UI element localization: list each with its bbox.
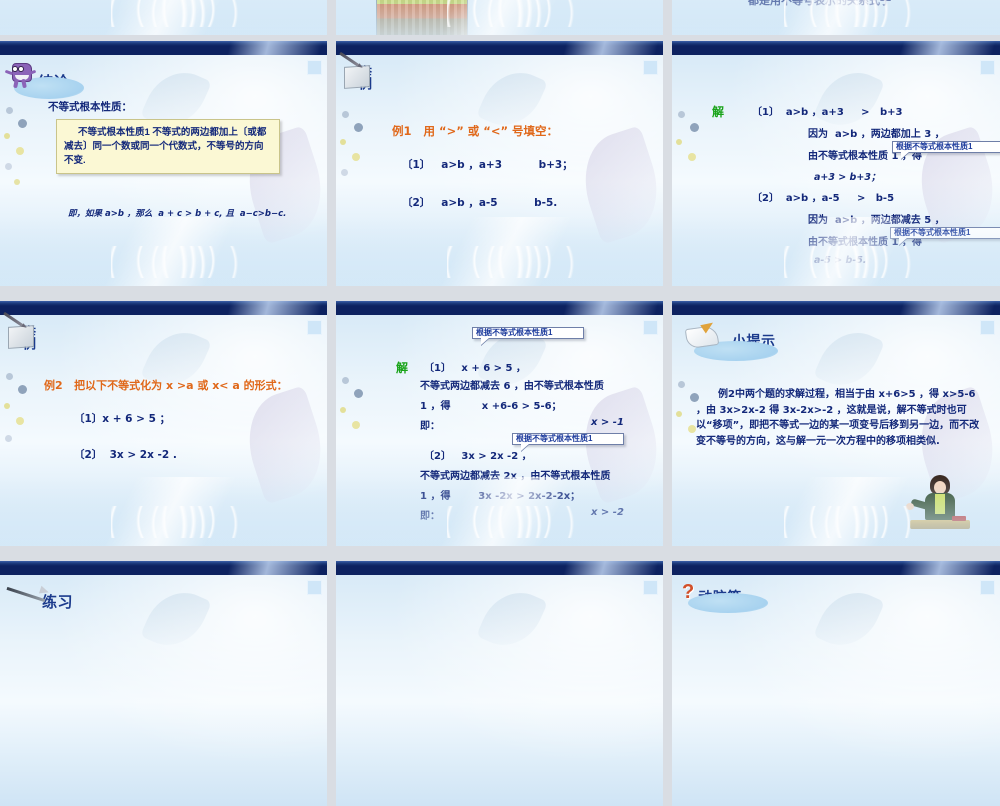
callout-tail-icon (899, 237, 908, 245)
decorative-leaf-icon (476, 581, 548, 657)
slide-title-example-2: 举例 (4, 319, 56, 349)
conclusion-footnote: 即，如果 a>b ，那么 a + c > b + c, 且 a−c>b−c. (68, 207, 286, 219)
decorative-swoosh (336, 217, 663, 286)
slide-thumbnail-bottom-1[interactable]: 练习 (0, 561, 327, 806)
teacher-illustration (910, 473, 970, 535)
corner-square-decor (643, 320, 658, 335)
corner-square-decor (643, 60, 658, 75)
ex2-solution-line-6: 不等式两边都减去 2x ，由不等式根本性质 (420, 467, 610, 482)
callout-property-2: 根据不等式根本性质1 (890, 227, 1000, 239)
corner-square-decor (643, 580, 658, 595)
slide-thumbnail-example-2[interactable]: 举例 例2 把以下不等式化为 x >a 或 x< a 的形式： 〔1〕x + 6… (0, 301, 327, 546)
solution-label: 解 (396, 359, 408, 376)
ex2-solution-line-8: 即： (420, 507, 440, 522)
solution-line-8: a-5 > b-5. (814, 255, 867, 266)
corner-square-decor (980, 580, 995, 595)
decorative-leaf-icon (813, 581, 885, 657)
slide-grid[interactable]: 都是用不等号表示的关系式子 (0, 0, 1000, 600)
slide-title-conclusion: 结论 (8, 59, 69, 92)
slide-header-band (672, 561, 1000, 575)
solution-line-4: a+3 > b+3； (814, 169, 880, 183)
solution-line-2: 因为 a>b ，两边都加上 3 ， (808, 125, 945, 140)
solution-line-6: 因为 a>b ，两边都减去 5 ， (808, 211, 945, 226)
corner-square-decor (307, 320, 322, 335)
slide-body: 都是用不等号表示的关系式子 (672, 0, 1000, 35)
slide-top-3-text: 都是用不等号表示的关系式子 (748, 0, 891, 8)
ex2-solution-line-1: 〔1〕 x + 6 > 5 ， (424, 359, 526, 374)
slide-title-practice: 练习 (6, 577, 73, 612)
slide-thumbnail-example-1-solution[interactable]: 解 〔1〕 a>b ，a+3 > b+3 因为 a>b ，两边都加上 3 ， 由… (672, 41, 1000, 286)
ex2-solution-line-5: 〔2〕 3x > 2x -2 ， (424, 447, 532, 462)
slide-thumbnail-conclusion[interactable]: 结论 不等式根本性质： 不等式根本性质1 不等式的两边都加上〔或都减去〕同一个数… (0, 41, 327, 286)
property-box-text: 不等式根本性质1 不等式的两边都加上〔或都减去〕同一个数或同一个代数式，不等号的… (64, 127, 266, 166)
solution-label: 解 (712, 103, 724, 120)
tip-paragraph: 例2中两个题的求解过程，相当于由 x+6>5 ，得 x>5-6 ，由 3x>2x… (696, 387, 984, 449)
ex2-solution-line-4: 即： (420, 417, 440, 432)
callout-tail-icon (901, 151, 910, 159)
slide-thumbnail-top-3[interactable]: 都是用不等号表示的关系式子 (672, 0, 1000, 35)
corner-square-decor (980, 320, 995, 335)
fruit-market-photo (376, 0, 468, 35)
slide-thumbnail-bottom-2[interactable] (336, 561, 663, 806)
slide-body: 解 〔1〕 a>b ，a+3 > b+3 因为 a>b ，两边都加上 3 ， 由… (672, 55, 1000, 286)
callout-property-2: 根据不等式根本性质1 (512, 433, 624, 445)
callout-text: 根据不等式根本性质1 (516, 434, 592, 443)
solution-line-1: 〔1〕 a>b ，a+3 > b+3 (752, 103, 903, 118)
example-1-heading: 例1 用 “>” 或 “<” 号填空： (392, 123, 558, 139)
decorative-dots (0, 357, 38, 486)
slide-thumbnail-example-1[interactable]: 举例 例1 用 “>” 或 “<” 号填空： 〔1〕 a>b ，a+3 b+3；… (336, 41, 663, 286)
callout-property-1: 根据不等式根本性质1 (892, 141, 1000, 153)
slide-body: ? 动脑筋 (672, 575, 1000, 806)
corner-square-decor (307, 580, 322, 595)
slide-header-band (336, 301, 663, 315)
slide-header-band (0, 301, 327, 315)
example-1-item-1: 〔1〕 a>b ，a+3 b+3； (402, 157, 573, 172)
slide-title-tip: 小提示 (684, 321, 776, 351)
decorative-leaf-icon (140, 581, 212, 657)
slide-body: 练习 (0, 575, 327, 806)
decorative-dots (336, 357, 374, 486)
decorative-dots (672, 97, 710, 226)
slide-header-band (0, 561, 327, 575)
example-2-heading: 例2 把以下不等式化为 x >a 或 x< a 的形式： (44, 377, 288, 393)
decorative-swoosh (0, 0, 327, 35)
solution-line-5: 〔2〕 a>b ，a-5 > b-5 (752, 189, 894, 204)
conclusion-subtitle: 不等式根本性质： (48, 99, 132, 114)
slide-body (336, 0, 663, 35)
mascot-character-icon (8, 62, 34, 90)
slide-thumbnail-top-1[interactable] (0, 0, 327, 35)
callout-text: 根据不等式根本性质1 (896, 142, 972, 151)
decorative-leaf-icon (571, 125, 663, 244)
slide-body: 小提示 例2中两个题的求解过程，相当于由 x+6>5 ，得 x>5-6 ，由 3… (672, 315, 1000, 546)
slide-body: 举例 例1 用 “>” 或 “<” 号填空： 〔1〕 a>b ，a+3 b+3；… (336, 55, 663, 286)
slide-thumbnail-top-2[interactable] (336, 0, 663, 35)
slide-header-band (672, 41, 1000, 55)
slide-header-band (0, 41, 327, 55)
callout-text: 根据不等式根本性质1 (476, 328, 552, 337)
corner-square-decor (307, 60, 322, 75)
slide-body: 结论 不等式根本性质： 不等式根本性质1 不等式的两边都加上〔或都减去〕同一个数… (0, 55, 327, 286)
ex2-solution-line-2: 不等式两边都减去 6 ，由不等式根本性质 (420, 377, 604, 392)
ex2-solution-result-2: x > -2 (591, 507, 624, 518)
decorative-leaf-icon (235, 385, 327, 504)
slide-body: 举例 例2 把以下不等式化为 x >a 或 x< a 的形式： 〔1〕x + 6… (0, 315, 327, 546)
callout-tail-icon (481, 337, 490, 345)
decorative-swoosh (0, 477, 327, 546)
example-2-item-2: 〔2〕 3x > 2x -2 . (74, 447, 177, 462)
slide-header-band (336, 561, 663, 575)
callout-tail-icon (521, 443, 530, 451)
slide-header-band (672, 301, 1000, 315)
slide-thumbnail-example-2-solution[interactable]: 解 〔1〕 x + 6 > 5 ， 不等式两边都减去 6 ，由不等式根本性质 1… (336, 301, 663, 546)
slide-body (0, 0, 327, 35)
example-2-item-1: 〔1〕x + 6 > 5 ； (74, 411, 170, 426)
slide-body: 解 〔1〕 x + 6 > 5 ， 不等式两边都减去 6 ，由不等式根本性质 1… (336, 315, 663, 546)
pencil-paper-icon (340, 59, 374, 89)
brush-icon (6, 585, 52, 605)
pencil-paper-icon (4, 319, 38, 349)
decorative-dots (0, 97, 38, 226)
callout-property-1: 根据不等式根本性质1 (472, 327, 584, 339)
ex2-solution-line-7: 1 ，得 3x -2x > 2x-2-2x； (420, 487, 580, 502)
example-1-item-2: 〔2〕 a>b ，a-5 b-5. (402, 195, 557, 210)
ex2-solution-line-3: 1 ，得 x +6-6 > 5-6； (420, 397, 562, 412)
corner-square-decor (980, 60, 995, 75)
decorative-swoosh (0, 217, 327, 286)
ex2-solution-result-1: x > -1 (591, 417, 624, 428)
decorative-leaf-icon (813, 321, 885, 397)
callout-text: 根据不等式根本性质1 (894, 228, 970, 237)
decorative-dots (336, 97, 374, 226)
property-box: 不等式根本性质1 不等式的两边都加上〔或都减去〕同一个数或同一个代数式，不等号的… (56, 119, 280, 174)
slide-thumbnail-tip[interactable]: 小提示 例2中两个题的求解过程，相当于由 x+6>5 ，得 x>5-6 ，由 3… (672, 301, 1000, 546)
slide-title-brainstorm: ? 动脑筋 (682, 577, 742, 607)
slide-title-example-1: 举例 (340, 59, 392, 89)
scroll-horn-icon (684, 321, 728, 351)
slide-thumbnail-bottom-3[interactable]: ? 动脑筋 (672, 561, 1000, 806)
slide-body (336, 575, 663, 806)
slide-header-band (336, 41, 663, 55)
